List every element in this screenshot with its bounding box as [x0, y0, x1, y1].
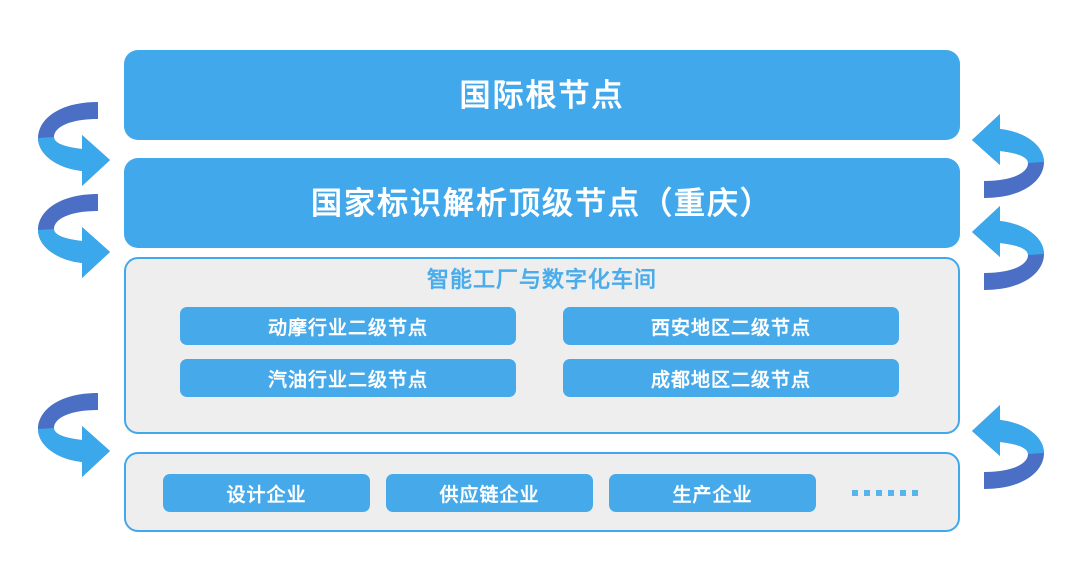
more-enterprises-ellipsis-icon [852, 490, 918, 496]
curved-arrow-left-icon [970, 385, 1046, 497]
secondary-node-motorcycle-label: 动摩行业二级节点 [268, 313, 428, 340]
panel-enterprises: 设计企业 供应链企业 生产企业 [124, 452, 960, 532]
ellipsis-dot [888, 490, 894, 496]
secondary-node-chengdu-label: 成都地区二级节点 [651, 365, 811, 392]
ellipsis-dot [864, 490, 870, 496]
smart-factory-title: 智能工厂与数字化车间 [126, 269, 958, 291]
enterprise-supplychain-label: 供应链企业 [439, 480, 539, 507]
secondary-node-xian[interactable]: 西安地区二级节点 [563, 307, 899, 345]
enterprise-row: 设计企业 供应链企业 生产企业 [163, 474, 918, 512]
secondary-node-gasoline-label: 汽油行业二级节点 [268, 365, 428, 392]
diagram-canvas: 国际根节点 国家标识解析顶级节点（重庆） 智能工厂与数字化车间 动摩行业二级节点… [0, 0, 1080, 583]
secondary-node-gasoline[interactable]: 汽油行业二级节点 [180, 359, 516, 397]
level-bar-national-top-node[interactable]: 国家标识解析顶级节点（重庆） [124, 158, 960, 248]
root-node-label: 国际根节点 [460, 80, 625, 111]
level-bar-root-node[interactable]: 国际根节点 [124, 50, 960, 140]
curved-arrow-right-icon [36, 385, 112, 497]
ellipsis-dot [852, 490, 858, 496]
enterprise-production[interactable]: 生产企业 [609, 474, 816, 512]
secondary-node-xian-label: 西安地区二级节点 [651, 313, 811, 340]
enterprise-design-label: 设计企业 [226, 480, 306, 507]
ellipsis-dot [876, 490, 882, 496]
secondary-node-motorcycle[interactable]: 动摩行业二级节点 [180, 307, 516, 345]
secondary-node-chengdu[interactable]: 成都地区二级节点 [563, 359, 899, 397]
panel-smart-factory: 智能工厂与数字化车间 动摩行业二级节点 西安地区二级节点 汽油行业二级节点 成都… [124, 257, 960, 434]
enterprise-design[interactable]: 设计企业 [163, 474, 370, 512]
national-top-node-label: 国家标识解析顶级节点（重庆） [311, 188, 773, 219]
ellipsis-dot [900, 490, 906, 496]
curved-arrow-left-icon [970, 186, 1046, 298]
enterprise-production-label: 生产企业 [672, 480, 752, 507]
ellipsis-dot [912, 490, 918, 496]
enterprise-supplychain[interactable]: 供应链企业 [386, 474, 593, 512]
secondary-node-grid: 动摩行业二级节点 西安地区二级节点 汽油行业二级节点 成都地区二级节点 [180, 307, 904, 397]
curved-arrow-right-icon [36, 186, 112, 298]
